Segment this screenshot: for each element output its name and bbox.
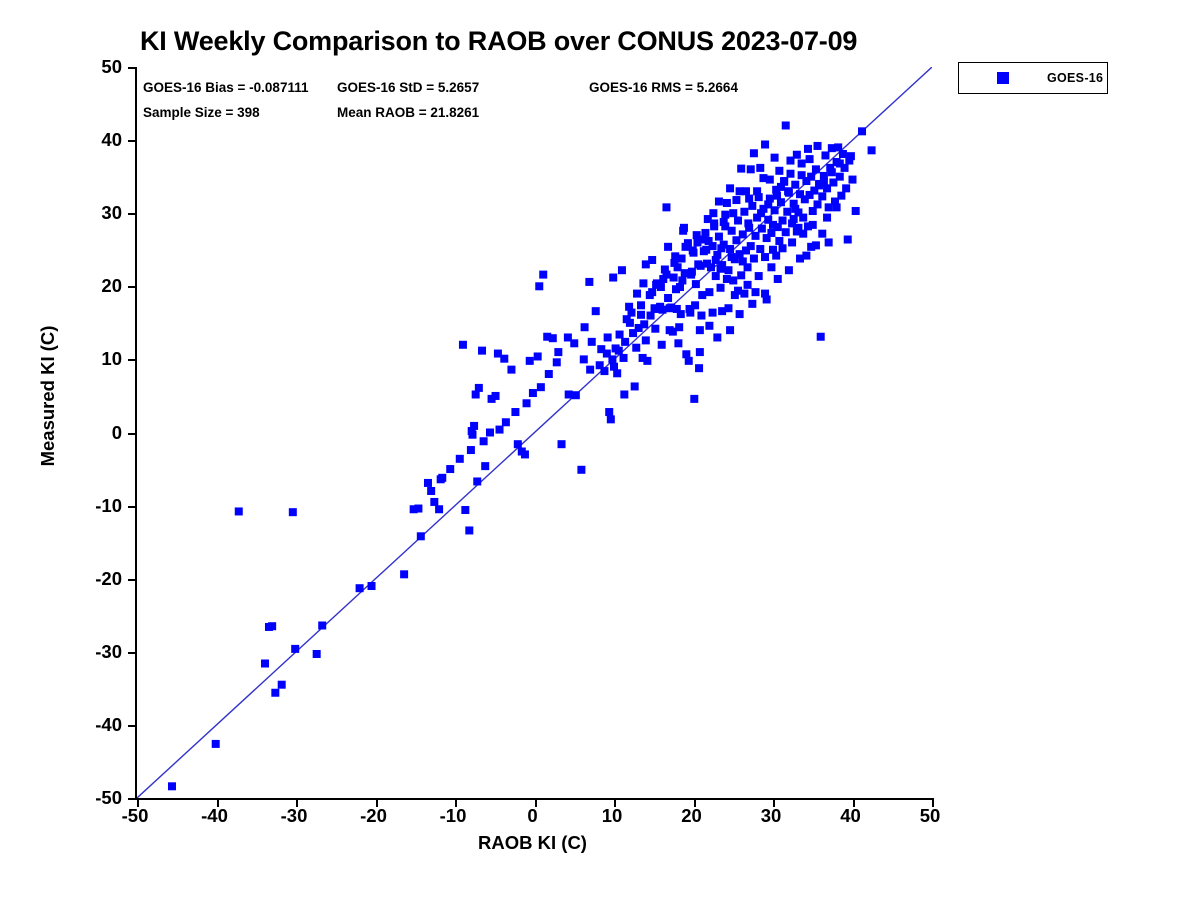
data-point [744, 281, 752, 289]
data-point [473, 477, 481, 485]
data-point [761, 253, 769, 261]
data-point [607, 415, 615, 423]
data-point [750, 255, 758, 263]
data-point [837, 192, 845, 200]
data-point [690, 395, 698, 403]
data-point [678, 276, 686, 284]
data-point [621, 338, 629, 346]
data-point [713, 333, 721, 341]
data-point [836, 159, 844, 167]
data-point [492, 392, 500, 400]
data-point [686, 309, 694, 317]
y-axis-tick [128, 140, 137, 142]
data-point [761, 140, 769, 148]
data-point [737, 271, 745, 279]
y-axis-tick [128, 725, 137, 727]
data-point [690, 249, 698, 257]
data-point [809, 221, 817, 229]
data-point [467, 446, 475, 454]
data-point [437, 475, 445, 483]
y-axis-tick [128, 506, 137, 508]
data-point [648, 256, 656, 264]
data-point [521, 450, 529, 458]
x-axis-tick-label: -40 [201, 805, 228, 827]
data-point [529, 389, 537, 397]
y-axis-tick [128, 67, 137, 69]
data-point [812, 241, 820, 249]
data-point [758, 225, 766, 233]
data-point [670, 274, 678, 282]
data-point [631, 382, 639, 390]
data-point [709, 209, 717, 217]
data-point [647, 312, 655, 320]
data-point [763, 295, 771, 303]
data-point [682, 243, 690, 251]
data-point [734, 217, 742, 225]
x-axis-label: RAOB KI (C) [0, 832, 1065, 854]
data-point [481, 462, 489, 470]
x-axis-tick-label: -30 [281, 805, 308, 827]
data-point [729, 209, 737, 217]
data-point [662, 271, 670, 279]
data-point [772, 252, 780, 260]
data-point [748, 300, 756, 308]
data-point [618, 266, 626, 274]
data-point [680, 224, 688, 232]
data-point [724, 266, 732, 274]
data-point [610, 363, 618, 371]
data-point [699, 236, 707, 244]
data-point [696, 348, 704, 356]
data-point [782, 121, 790, 129]
data-point [417, 532, 425, 540]
data-point [597, 345, 605, 353]
data-point [675, 323, 683, 331]
data-point [653, 279, 661, 287]
data-point [475, 384, 483, 392]
data-point [712, 256, 720, 264]
series-goes-16 [168, 121, 876, 790]
data-point [766, 176, 774, 184]
data-point [500, 355, 508, 363]
y-axis-tick-label: 20 [62, 275, 122, 297]
data-point [616, 331, 624, 339]
data-point [769, 221, 777, 229]
y-axis-tick [128, 433, 137, 435]
data-point [588, 338, 596, 346]
data-point [168, 782, 176, 790]
data-point [678, 255, 686, 263]
data-point [752, 232, 760, 240]
data-point [814, 200, 822, 208]
data-point [784, 187, 792, 195]
data-point [724, 304, 732, 312]
data-point [747, 242, 755, 250]
data-point [791, 205, 799, 213]
data-point [798, 159, 806, 167]
data-point [783, 208, 791, 216]
data-point [514, 440, 522, 448]
data-point [779, 244, 787, 252]
data-point [794, 224, 802, 232]
data-point [726, 184, 734, 192]
data-point [720, 218, 728, 226]
data-point [734, 287, 742, 295]
y-axis-tick-label: -50 [62, 787, 122, 809]
figure-container: KI Weekly Comparison to RAOB over CONUS … [0, 0, 1200, 900]
data-point [698, 291, 706, 299]
data-point [750, 149, 758, 157]
data-point [553, 358, 561, 366]
data-point [723, 275, 731, 283]
data-point [356, 584, 364, 592]
data-point [833, 203, 841, 211]
data-point [534, 352, 542, 360]
data-point [685, 357, 693, 365]
data-point [565, 390, 573, 398]
data-point [791, 181, 799, 189]
data-point [674, 339, 682, 347]
data-point [773, 192, 781, 200]
data-point [318, 621, 326, 629]
y-axis-tick-label: 0 [62, 422, 122, 444]
data-point [820, 178, 828, 186]
data-point [674, 263, 682, 271]
data-point [757, 209, 765, 217]
data-point [539, 271, 547, 279]
data-point [465, 526, 473, 534]
data-point [289, 508, 297, 516]
data-point [212, 740, 220, 748]
data-point [585, 278, 593, 286]
data-point [554, 348, 562, 356]
data-point [742, 187, 750, 195]
data-point [414, 505, 422, 513]
data-point [842, 184, 850, 192]
data-point [664, 243, 672, 251]
data-point [748, 202, 756, 210]
data-point [642, 336, 650, 344]
data-point [592, 307, 600, 315]
data-point [632, 344, 640, 352]
data-point [818, 192, 826, 200]
legend: GOES-16 [958, 62, 1108, 94]
data-point [648, 288, 656, 296]
data-point [511, 408, 519, 416]
data-point [608, 355, 616, 363]
y-axis-tick [128, 652, 137, 654]
data-point [695, 364, 703, 372]
data-point [782, 228, 790, 236]
data-point [737, 165, 745, 173]
data-point [435, 505, 443, 513]
data-point [470, 422, 478, 430]
data-point [849, 176, 857, 184]
data-point [427, 487, 435, 495]
data-point [747, 165, 755, 173]
x-axis-tick-label: 10 [602, 805, 623, 827]
data-point [715, 233, 723, 241]
data-point [844, 236, 852, 244]
data-point [702, 246, 710, 254]
data-point [802, 252, 810, 260]
data-point [723, 199, 731, 207]
data-point [480, 437, 488, 445]
y-axis-tick-label: 10 [62, 348, 122, 370]
data-point [823, 214, 831, 222]
data-point [726, 245, 734, 253]
data-point [790, 215, 798, 223]
x-axis-tick-label: 20 [681, 805, 702, 827]
y-axis-label: Measured KI (C) [37, 296, 59, 496]
x-axis-tick-label: 50 [920, 805, 941, 827]
data-point [744, 219, 752, 227]
data-point [807, 173, 815, 181]
page-title: KI Weekly Comparison to RAOB over CONUS … [140, 26, 940, 57]
data-point [368, 582, 376, 590]
data-point [586, 366, 594, 374]
data-point [752, 288, 760, 296]
data-point [271, 689, 279, 697]
y-axis-tick-label: -30 [62, 641, 122, 663]
data-point [651, 325, 659, 333]
y-axis-tick [128, 286, 137, 288]
data-point [537, 383, 545, 391]
data-point [755, 272, 763, 280]
data-point [688, 268, 696, 276]
y-axis-tick-label: 30 [62, 202, 122, 224]
data-point [736, 310, 744, 318]
data-point [656, 303, 664, 311]
data-point [705, 288, 713, 296]
data-point [732, 196, 740, 204]
data-point [697, 312, 705, 320]
data-point [626, 319, 634, 327]
data-point [821, 151, 829, 159]
data-point [818, 230, 826, 238]
y-axis-tick [128, 213, 137, 215]
data-point [523, 399, 531, 407]
data-point [806, 155, 814, 163]
data-point [291, 645, 299, 653]
x-axis-tick-label: -10 [440, 805, 467, 827]
data-point [609, 274, 617, 282]
data-point [712, 272, 720, 280]
data-point [828, 168, 836, 176]
data-point [535, 282, 543, 290]
plot-area [135, 67, 932, 800]
data-point [836, 173, 844, 181]
data-point [739, 257, 747, 265]
data-point [637, 311, 645, 319]
y-axis-tick-label: -10 [62, 495, 122, 517]
data-point [717, 244, 725, 252]
data-point [549, 334, 557, 342]
data-point [558, 440, 566, 448]
data-point [640, 320, 648, 328]
data-point [639, 354, 647, 362]
data-point [710, 222, 718, 230]
y-axis-tick-label: -20 [62, 568, 122, 590]
data-point [825, 238, 833, 246]
data-point [496, 426, 504, 434]
data-point [775, 167, 783, 175]
data-point [775, 237, 783, 245]
legend-label-goes-16: GOES-16 [1047, 71, 1103, 85]
data-point [580, 355, 588, 363]
data-point [507, 366, 515, 374]
data-point [771, 154, 779, 162]
data-point [717, 265, 725, 273]
data-point [753, 187, 761, 195]
data-point [605, 408, 613, 416]
data-point [564, 333, 572, 341]
data-point [812, 165, 820, 173]
data-point [572, 391, 580, 399]
data-point [486, 429, 494, 437]
data-point [604, 333, 612, 341]
data-point [577, 466, 585, 474]
data-point [672, 285, 680, 293]
data-point [707, 263, 715, 271]
data-point [235, 507, 243, 515]
y-axis-tick-label: 40 [62, 129, 122, 151]
data-point [278, 681, 286, 689]
x-axis-tick-label: -50 [122, 805, 149, 827]
data-point [694, 260, 702, 268]
data-point [756, 245, 764, 253]
data-point [633, 290, 641, 298]
data-point [637, 301, 645, 309]
data-point [666, 326, 674, 334]
data-point [581, 323, 589, 331]
data-point [502, 418, 510, 426]
data-point [780, 177, 788, 185]
data-point [764, 200, 772, 208]
y-axis-tick [128, 798, 137, 800]
data-point [814, 142, 822, 150]
x-axis-tick-label: 0 [527, 805, 537, 827]
data-point [705, 322, 713, 330]
x-axis-tick-label: 40 [840, 805, 861, 827]
data-point [627, 309, 635, 317]
data-point [261, 659, 269, 667]
data-point [852, 207, 860, 215]
data-point [692, 280, 700, 288]
data-point [804, 145, 812, 153]
data-point [461, 506, 469, 514]
y-axis-tick-label: -40 [62, 714, 122, 736]
data-point [847, 152, 855, 160]
y-axis-tick [128, 359, 137, 361]
data-point [774, 275, 782, 283]
data-point [788, 238, 796, 246]
x-axis-tick-label: -20 [360, 805, 387, 827]
data-point [726, 326, 734, 334]
data-point [629, 329, 637, 337]
data-point [728, 253, 736, 261]
data-point [677, 310, 685, 318]
x-axis-tick-label: 30 [761, 805, 782, 827]
data-point [639, 279, 647, 287]
data-point [620, 390, 628, 398]
data-point [717, 284, 725, 292]
data-point [817, 333, 825, 341]
data-point [615, 347, 623, 355]
data-point [709, 309, 717, 317]
data-point [664, 294, 672, 302]
data-point [459, 341, 467, 349]
data-point [858, 127, 866, 135]
data-point [424, 479, 432, 487]
y-axis-tick [128, 579, 137, 581]
data-point [268, 622, 276, 630]
data-point [696, 326, 704, 334]
data-point [767, 263, 775, 271]
data-point [446, 465, 454, 473]
data-point [313, 650, 321, 658]
legend-swatch-goes-16 [997, 72, 1009, 84]
data-point [721, 211, 729, 219]
data-point [728, 227, 736, 235]
data-point [868, 146, 876, 154]
data-point [468, 431, 476, 439]
scatter-plot-canvas [137, 67, 932, 798]
data-point [545, 370, 553, 378]
data-point [715, 198, 723, 206]
data-point [662, 203, 670, 211]
data-point [786, 157, 794, 165]
data-point [600, 367, 608, 375]
data-point [779, 217, 787, 225]
data-point [691, 301, 699, 309]
data-point [756, 164, 764, 172]
data-point [785, 266, 793, 274]
data-point [799, 214, 807, 222]
data-point [786, 170, 794, 178]
data-point [456, 455, 464, 463]
data-point [658, 341, 666, 349]
data-point [740, 208, 748, 216]
data-point [430, 498, 438, 506]
data-point [400, 570, 408, 578]
data-point [745, 195, 753, 203]
data-point [478, 347, 486, 355]
y-axis-tick-label: 50 [62, 56, 122, 78]
data-point [620, 354, 628, 362]
data-point [526, 357, 534, 365]
